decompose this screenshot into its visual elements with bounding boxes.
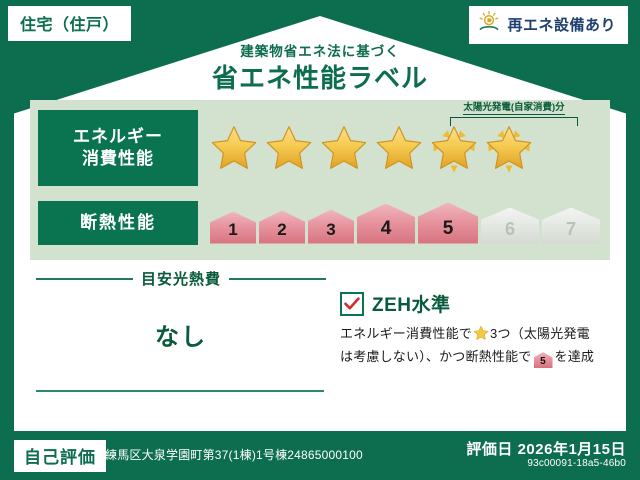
heading-rule-right (229, 278, 326, 280)
building-type-chip: 住宅（住戸） (8, 6, 131, 41)
utility-cost-heading: 目安光熱費 (36, 268, 326, 289)
star-icon-inline (473, 325, 489, 347)
zeh-desc-part1: エネルギー消費性能で (340, 326, 472, 341)
renewable-badge-label: 再エネ設備あり (507, 14, 616, 35)
utility-cost-value: なし (36, 317, 326, 352)
evaluation-date: 評価日 2026年1月15日 (466, 438, 626, 459)
zeh-desc-star-count: 3つ（太陽光発電 (490, 326, 590, 341)
insulation-level-value: 6 (505, 219, 515, 244)
energy-label-line1: エネルギー (73, 126, 163, 148)
insulation-level-value: 4 (381, 218, 392, 244)
insulation-level-value: 5 (443, 218, 454, 244)
utility-cost-section: 目安光熱費 なし (36, 268, 326, 352)
energy-performance-label: エネルギー 消費性能 (38, 110, 198, 186)
star-icon (263, 122, 315, 174)
insulation-level-value: 7 (566, 219, 576, 244)
energy-label-root: 住宅（住戸） 再エネ設備あり 建築物省エネ法に基づく 省エネ性能ラベル (0, 0, 640, 480)
energy-label-line2: 消費性能 (82, 148, 154, 170)
star-icon-solar (428, 122, 480, 174)
bottom-divider (36, 390, 324, 392)
insulation-level-inline-icon: 5 (534, 352, 553, 368)
sun-icon (477, 10, 501, 39)
zeh-heading: ZEH水準 (340, 290, 610, 317)
solar-annotation-bracket (450, 117, 578, 126)
insulation-level-7: 7 (542, 208, 600, 244)
check-icon (344, 297, 360, 311)
insulation-level-1: 1 (210, 212, 256, 244)
insulation-level-3: 3 (308, 210, 354, 244)
insulation-level-value: 3 (326, 220, 335, 244)
insulation-level-4: 4 (357, 204, 415, 244)
label-footer: 自己評価 練馬区大泉学園町第37(1棟)1号棟24865000100 評価日 2… (0, 432, 640, 480)
page-title: 省エネ性能ラベル (0, 58, 640, 95)
zeh-desc-part3: を達成 (555, 349, 595, 364)
energy-star-rating (208, 122, 535, 174)
insulation-level-value: 2 (277, 220, 286, 244)
solar-annotation-label: 太陽光発電(自家消費)分 (463, 99, 564, 115)
insulation-level-6: 6 (481, 208, 539, 244)
insulation-level-inline-value: 5 (534, 352, 553, 372)
insulation-level-value: 1 (228, 220, 237, 244)
renewable-equipment-badge: 再エネ設備あり (469, 6, 628, 44)
zeh-description: エネルギー消費性能で 3つ（太陽光発電 は考慮しない）、かつ断熱性能で 5 を達… (340, 324, 610, 368)
insulation-level-scale: 1234567 (210, 203, 600, 244)
star-icon (318, 122, 370, 174)
heading-rule-left (36, 278, 133, 280)
property-address: 練馬区大泉学園町第37(1棟)1号棟24865000100 (105, 446, 363, 463)
insulation-label-text: 断熱性能 (80, 212, 156, 234)
building-type-label: 住宅（住戸） (20, 17, 119, 34)
zeh-checkbox (340, 292, 364, 316)
insulation-level-2: 2 (259, 211, 305, 244)
insulation-level-5: 5 (418, 203, 478, 244)
utility-cost-title: 目安光熱費 (141, 268, 221, 289)
star-icon-solar (483, 122, 535, 174)
zeh-title: ZEH水準 (372, 290, 451, 317)
star-icon (208, 122, 260, 174)
zeh-desc-part2: は考慮しない）、かつ断熱性能で (340, 349, 532, 364)
self-evaluation-badge: 自己評価 (14, 440, 106, 472)
star-icon (373, 122, 425, 174)
zeh-section: ZEH水準 エネルギー消費性能で 3つ（太陽光発電 は考慮しない）、かつ断熱性能… (340, 290, 610, 368)
solar-generation-annotation: 太陽光発電(自家消費)分 (450, 97, 578, 126)
insulation-performance-row: 断熱性能 1234567 (30, 198, 610, 248)
insulation-performance-label: 断熱性能 (38, 201, 198, 245)
evaluation-id: 93c00091-18a5-46b0 (527, 458, 626, 469)
